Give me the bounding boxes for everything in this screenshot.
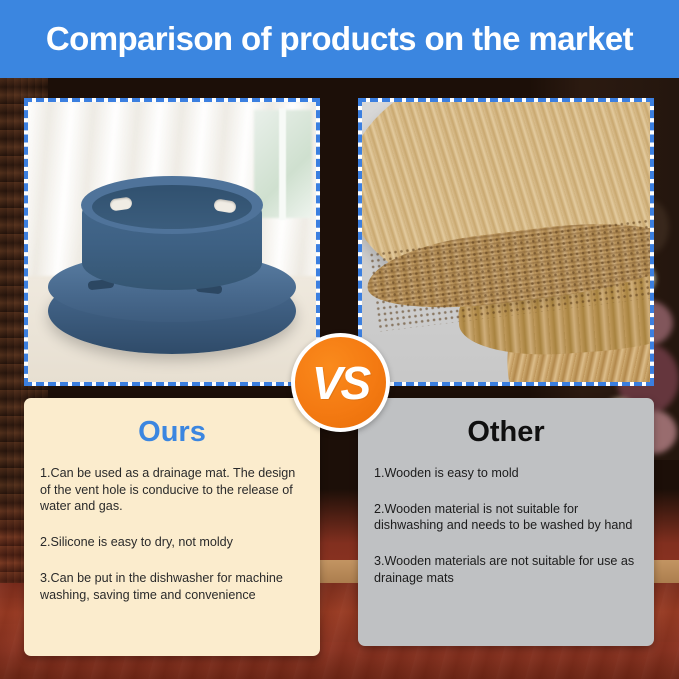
silicone-mat-photo bbox=[28, 102, 316, 382]
window-frame bbox=[279, 108, 286, 220]
header-banner: Comparison of products on the market bbox=[0, 0, 679, 78]
list-item: 3.Wooden materials are not suitable for … bbox=[374, 553, 638, 586]
vs-badge: VS bbox=[291, 333, 390, 432]
list-item: 2.Silicone is easy to dry, not moldy bbox=[40, 534, 304, 551]
list-item: 3.Can be put in the dishwasher for machi… bbox=[40, 570, 304, 603]
other-feature-list: 1.Wooden is easy to mold 2.Wooden materi… bbox=[374, 465, 638, 587]
product-image-ours bbox=[24, 98, 320, 386]
other-panel-title: Other bbox=[374, 418, 638, 447]
list-item: 1.Can be used as a drainage mat. The des… bbox=[40, 465, 304, 515]
list-item: 2.Wooden material is not suitable for di… bbox=[374, 501, 638, 534]
comparison-infographic: Comparison of products on the market bbox=[0, 0, 679, 679]
other-panel: Other 1.Wooden is easy to mold 2.Wooden … bbox=[358, 398, 654, 646]
ours-panel: Ours 1.Can be used as a drainage mat. Th… bbox=[24, 398, 320, 656]
product-image-other bbox=[358, 98, 654, 386]
ours-panel-title: Ours bbox=[40, 418, 304, 447]
ours-feature-list: 1.Can be used as a drainage mat. The des… bbox=[40, 465, 304, 603]
vs-label: VS bbox=[312, 360, 369, 406]
list-item: 1.Wooden is easy to mold bbox=[374, 465, 638, 482]
bamboo-tray-photo bbox=[362, 102, 650, 382]
page-title: Comparison of products on the market bbox=[46, 20, 633, 58]
